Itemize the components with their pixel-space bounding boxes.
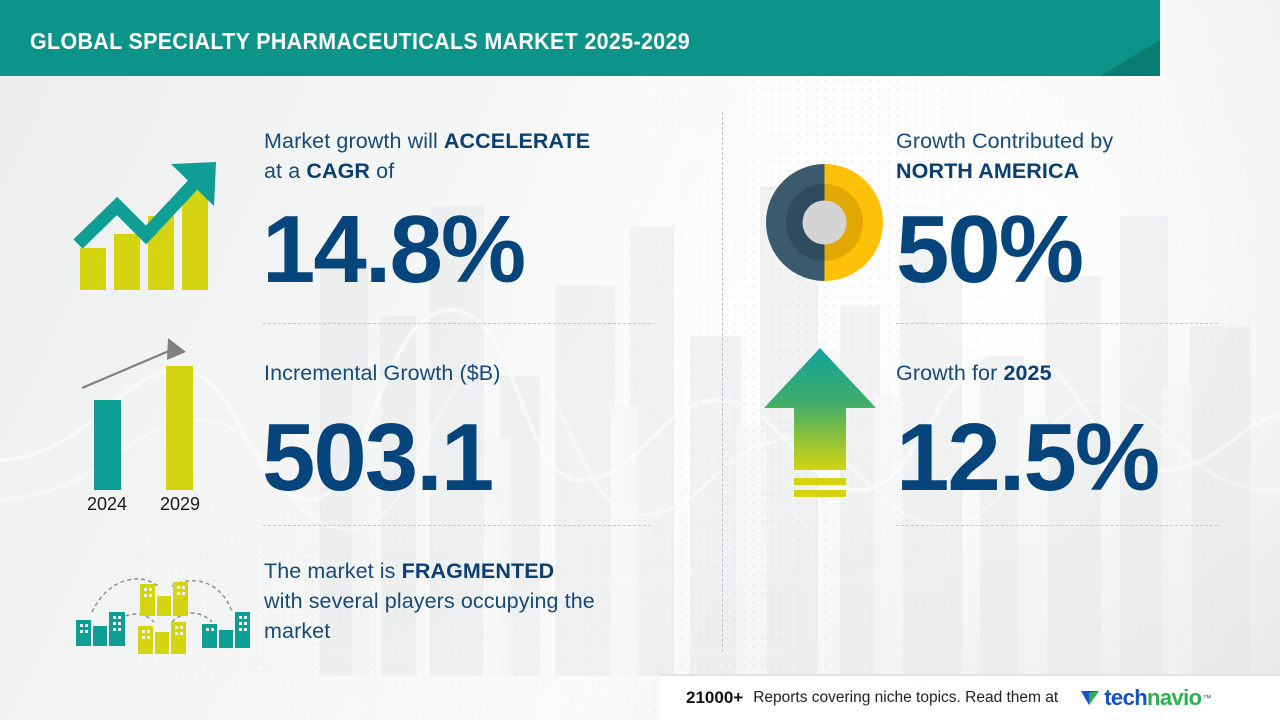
cagr-statement: Market growth will ACCELERATE at a CAGR … [264,126,664,186]
logo-text-tech: tech [1104,685,1147,710]
incremental-growth-label: Incremental Growth ($B) [264,358,664,388]
bar-label-2029: 2029 [160,494,200,514]
infographic-canvas: GLOBAL SPECIALTY PHARMACEUTICALS MARKET … [0,0,1280,720]
region-contribution-value: 50% [896,202,1082,298]
trademark-symbol: ™ [1203,693,1212,703]
fragmentation-line3: market [264,619,330,643]
page-title: GLOBAL SPECIALTY PHARMACEUTICALS MARKET … [30,28,690,55]
growth-year-label: Growth for 2025 [896,358,1226,388]
fragmentation-statement: The market is FRAGMENTED with several pl… [264,556,684,646]
cagr-line1-emphasis: ACCELERATE [444,129,590,153]
fragmentation-line2: with several players occupying the [264,589,595,613]
city-network-icon [62,560,262,660]
divider-left-1 [263,323,651,324]
technavio-logo[interactable]: technavio ™ [1080,685,1211,711]
region-contribution-statement: Growth Contributed by NORTH AMERICA [896,126,1226,186]
vertical-divider [722,112,723,652]
bar-label-2024: 2024 [87,494,127,514]
technavio-mark-icon [1080,687,1102,709]
up-arrow-icon [760,342,880,512]
growth-year-prefix: Growth for [896,361,1003,385]
cagr-line2-emphasis: CAGR [306,159,370,183]
cagr-line1-prefix: Market growth will [264,129,444,153]
growth-chart-icon [70,148,230,293]
cagr-line2-prefix: at a [264,159,306,183]
fragmentation-emphasis: FRAGMENTED [402,559,555,583]
footer-report-count: 21000+ [686,688,743,708]
region-line1: Growth Contributed by [896,129,1113,153]
fragmentation-line1-prefix: The market is [264,559,402,583]
divider-left-2 [263,525,651,526]
incremental-growth-value: 503.1 [262,410,492,506]
technavio-wordmark: technavio [1104,685,1201,711]
growth-year-value-year: 2025 [1003,361,1051,385]
footer-bar: 21000+ Reports covering niche topics. Re… [660,676,1280,720]
footer-text: Reports covering niche topics. Read them… [753,689,1058,707]
divider-right-1 [896,323,1218,324]
divider-right-2 [896,525,1218,526]
bar-comparison-icon: 2024 2029 [70,330,235,515]
logo-text-navio: navio [1147,685,1201,710]
cagr-line2-suffix: of [370,159,394,183]
growth-year-value: 12.5% [896,410,1158,506]
donut-chart-icon [762,160,887,285]
cagr-value: 14.8% [262,202,524,298]
header-fold-corner [1100,40,1160,76]
region-name: NORTH AMERICA [896,159,1079,183]
